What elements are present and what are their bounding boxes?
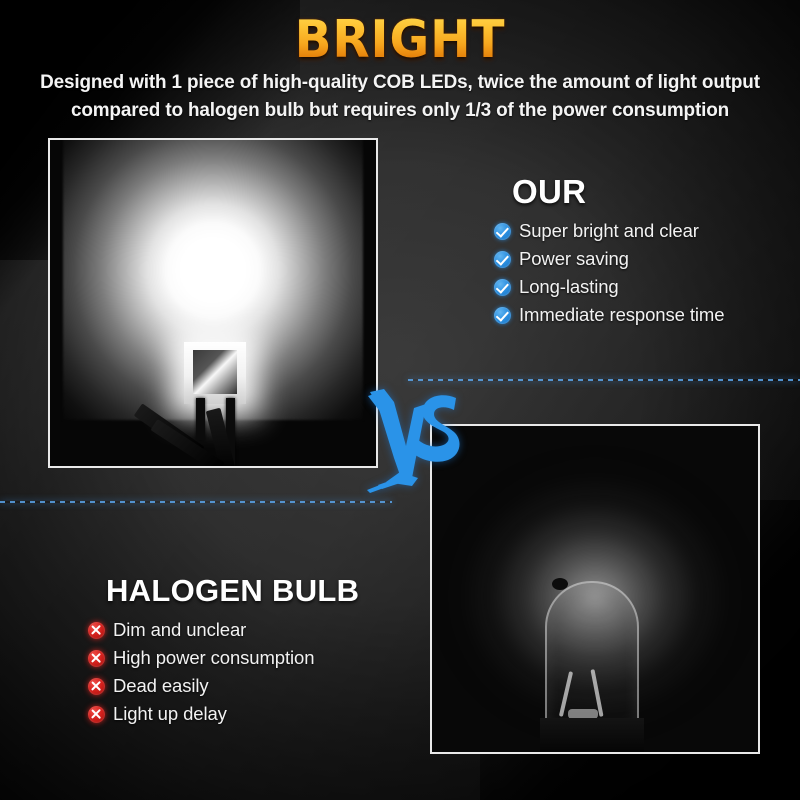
halogen-glass-envelope — [545, 581, 639, 729]
check-circle-icon — [494, 223, 511, 240]
our-feature-label: Immediate response time — [519, 303, 724, 327]
our-feature-item: Immediate response time — [494, 301, 790, 329]
our-feature-label: Long-lasting — [519, 275, 619, 299]
halogen-feature-label: Dim and unclear — [113, 618, 246, 642]
halogen-photo-scene — [432, 426, 758, 752]
our-product-block: OUR Super bright and clear Power saving … — [512, 174, 790, 329]
halogen-feature-label: Dead easily — [113, 674, 209, 698]
accent-dash-line-right — [408, 379, 800, 381]
halogen-product-block: HALOGEN BULB Dim and unclear High power … — [106, 573, 426, 728]
halogen-feature-item: High power consumption — [88, 644, 426, 672]
halogen-feature-label: High power consumption — [113, 646, 314, 670]
x-circle-icon — [88, 622, 105, 639]
our-feature-label: Super bright and clear — [519, 219, 699, 243]
led-photo-scene — [50, 140, 376, 466]
our-product-title: OUR — [512, 174, 790, 210]
halogen-feature-item: Dim and unclear — [88, 616, 426, 644]
led-lead-wire — [196, 398, 205, 440]
our-feature-label: Power saving — [519, 247, 629, 271]
accent-dash-line-left — [0, 501, 392, 503]
x-circle-icon — [88, 706, 105, 723]
halogen-feature-label: Light up delay — [113, 702, 227, 726]
product-comparison-graphic: BRIGHT Designed with 1 piece of high-qua… — [0, 0, 800, 800]
x-circle-icon — [88, 678, 105, 695]
led-product-photo — [48, 138, 378, 468]
our-feature-item: Power saving — [494, 245, 790, 273]
halogen-feature-item: Light up delay — [88, 700, 426, 728]
check-circle-icon — [494, 307, 511, 324]
check-circle-icon — [494, 279, 511, 296]
page-headline: BRIGHT — [28, 14, 772, 66]
halogen-glass-tip — [552, 578, 568, 590]
halogen-feature-item: Dead easily — [88, 672, 426, 700]
our-feature-item: Long-lasting — [494, 273, 790, 301]
halogen-base-cap — [540, 718, 644, 754]
page-subtitle: Designed with 1 piece of high-quality CO… — [37, 68, 763, 124]
versus-icon — [364, 386, 464, 494]
halogen-product-photo — [430, 424, 760, 754]
check-circle-icon — [494, 251, 511, 268]
our-feature-item: Super bright and clear — [494, 217, 790, 245]
led-chip-body — [184, 342, 246, 404]
x-circle-icon — [88, 650, 105, 667]
halogen-product-title: HALOGEN BULB — [106, 573, 426, 609]
